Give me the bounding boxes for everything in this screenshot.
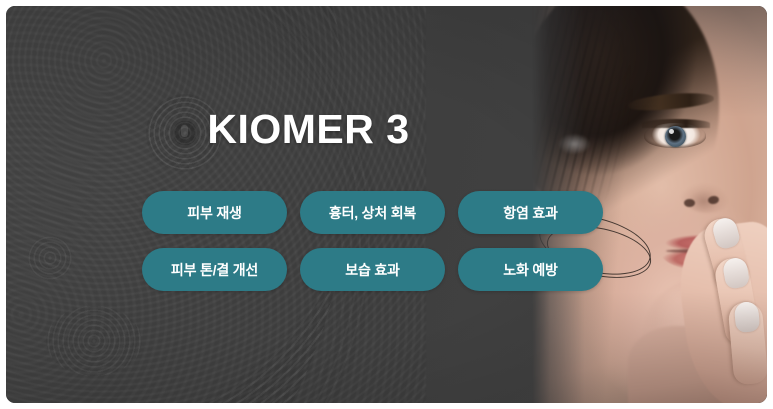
promo-card: KIOMER 3 피부 재생 흉터, 상처 회복 항염 효과 피부 톤/결 개선… (6, 6, 767, 403)
benefit-grid: 피부 재생 흉터, 상처 회복 항염 효과 피부 톤/결 개선 보습 효과 노화… (142, 191, 622, 291)
page-title: KIOMER 3 (6, 107, 611, 153)
benefit-pill-scar-wound-recovery[interactable]: 흉터, 상처 회복 (300, 191, 445, 234)
benefit-pill-anti-inflammatory[interactable]: 항염 효과 (458, 191, 603, 234)
benefit-pill-moisturizing[interactable]: 보습 효과 (300, 248, 445, 291)
benefit-pill-skin-tone-texture[interactable]: 피부 톤/결 개선 (142, 248, 287, 291)
content-stack: KIOMER 3 피부 재생 흉터, 상처 회복 항염 효과 피부 톤/결 개선… (6, 6, 611, 403)
benefit-pill-skin-regeneration[interactable]: 피부 재생 (142, 191, 287, 234)
benefit-pill-anti-aging[interactable]: 노화 예방 (458, 248, 603, 291)
